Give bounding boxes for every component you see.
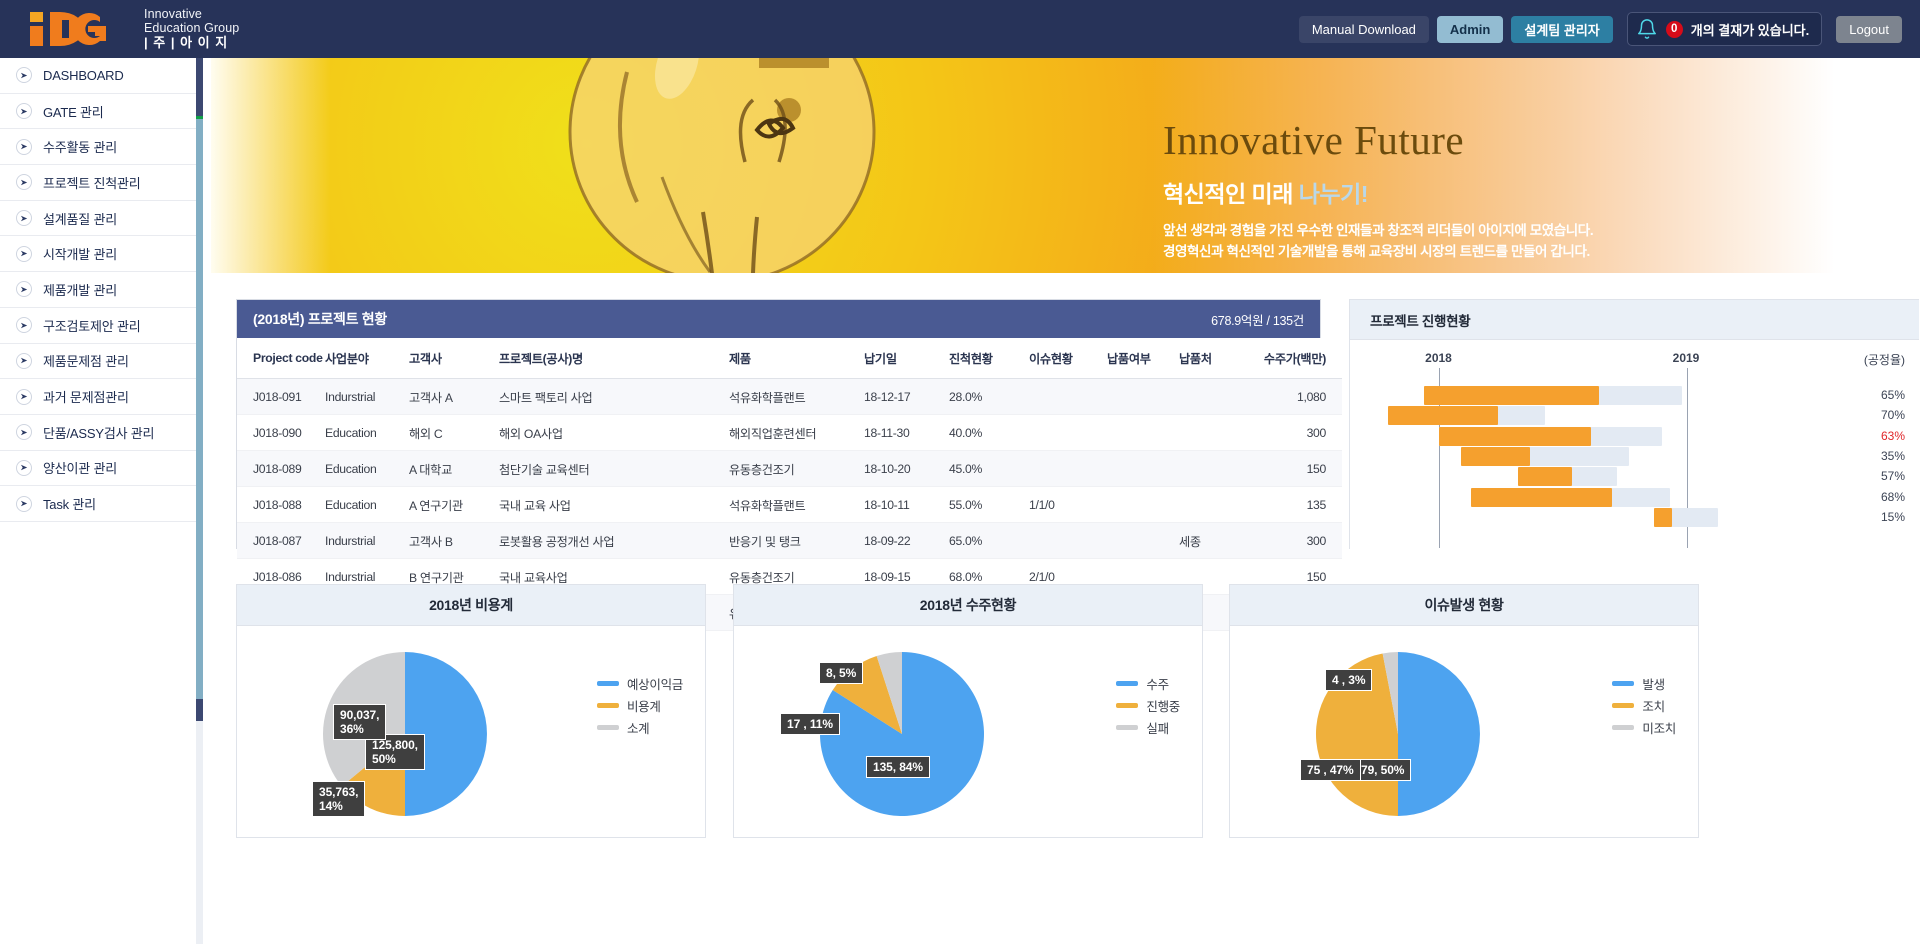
legend-swatch-icon — [1116, 725, 1138, 730]
sidebar-item-label: 과거 문제점관리 — [43, 387, 129, 406]
cell-client: 해외 C — [409, 415, 499, 451]
gantt-bar-fill — [1388, 406, 1498, 425]
sidebar-item-5[interactable]: 시작개발 관리 — [0, 236, 197, 272]
table-row[interactable]: J018-090Education해외 C해외 OA사업해외직업훈련센터18-1… — [237, 415, 1342, 451]
gantt-bar-fill — [1518, 467, 1571, 486]
sidebar-item-11[interactable]: 양산이관 관리 — [0, 451, 197, 487]
table-row[interactable]: J018-091Indurstrial고객사 A스마트 팩토리 사업석유화학플랜… — [237, 379, 1342, 415]
pie-data-label-1: 75 , 47% — [1300, 759, 1361, 781]
cost-pie-body: 예상이익금비용계소계125,800, 50%35,763, 14%90,037,… — [237, 626, 705, 837]
legend-label: 미조치 — [1642, 718, 1676, 737]
legend-swatch-icon — [1612, 681, 1634, 686]
gantt-panel-title: 프로젝트 진행현황 — [1370, 310, 1470, 330]
logo-tagline-line2: Education Group — [144, 21, 239, 35]
cell-order-price: 1,080 — [1247, 379, 1342, 415]
cell-project-name: 로봇활용 공정개선 사업 — [499, 523, 729, 559]
cell-project-code: J018-089 — [237, 451, 325, 487]
banner-left-gradient — [211, 58, 331, 273]
col-business-field: 사업분야 — [325, 338, 409, 379]
cell-order-price: 150 — [1247, 451, 1342, 487]
project-panel-summary: 678.9억원 / 135건 — [1211, 310, 1304, 329]
cell-due-date: 18-11-30 — [864, 415, 949, 451]
scrollbar-thumb[interactable] — [196, 119, 203, 699]
gantt-panel-header: 프로젝트 진행현황 — [1350, 300, 1919, 340]
cell-issue: 1/1/0 — [1029, 487, 1107, 523]
cell-delivered — [1107, 379, 1179, 415]
arrow-right-icon — [16, 103, 32, 119]
legend-swatch-icon — [597, 725, 619, 730]
cell-issue — [1029, 415, 1107, 451]
sidebar-item-3[interactable]: 프로젝트 진척관리 — [0, 165, 197, 201]
cell-product: 해외직업훈련센터 — [729, 415, 864, 451]
notification-count-badge: 0 — [1666, 21, 1683, 38]
orders-pie-body: 수주진행중실패135, 84%17 , 11%8, 5% — [734, 626, 1202, 837]
brand-logo[interactable]: Innovative Education Group | 주 | 아 이 지 — [0, 7, 239, 51]
project-table-head: Project code 사업분야 고객사 프로젝트(공사)명 제품 납기일 진… — [237, 338, 1342, 379]
arrow-right-icon — [16, 496, 32, 512]
cell-project-name: 해외 OA사업 — [499, 415, 729, 451]
manual-download-button[interactable]: Manual Download — [1299, 16, 1429, 43]
project-table-header-row: Project code 사업분야 고객사 프로젝트(공사)명 제품 납기일 진… — [237, 338, 1342, 379]
legend-label: 소계 — [627, 718, 649, 737]
col-destination: 납품처 — [1179, 338, 1247, 379]
sidebar-item-label: 설계품질 관리 — [43, 209, 117, 228]
sidebar-item-label: Task 관리 — [43, 494, 96, 513]
sidebar-item-label: 제품개발 관리 — [43, 280, 117, 299]
cell-progress: 40.0% — [949, 415, 1029, 451]
legend-item-1: 진행중 — [1116, 696, 1180, 715]
col-order-price: 수주가(백만) — [1247, 338, 1342, 379]
arrow-right-icon — [16, 424, 32, 440]
cell-progress: 65.0% — [949, 523, 1029, 559]
gantt-progress-label: 57% — [1881, 469, 1905, 483]
sidebar-item-2[interactable]: 수주활동 관리 — [0, 129, 197, 165]
arrow-right-icon — [16, 210, 32, 226]
arrow-right-icon — [16, 460, 32, 476]
pie-data-label-2: 90,037, 36% — [333, 704, 386, 740]
logout-button[interactable]: Logout — [1836, 16, 1902, 43]
legend-item-1: 비용계 — [597, 696, 683, 715]
banner-description: 앞선 생각과 경험을 가진 우수한 인재들과 창조적 리더들이 아이지에 모였습… — [1163, 221, 1593, 263]
cell-client: A 연구기관 — [409, 487, 499, 523]
cell-project-name: 스마트 팩토리 사업 — [499, 379, 729, 415]
col-project-name: 프로젝트(공사)명 — [499, 338, 729, 379]
gantt-bar-fill — [1471, 488, 1613, 507]
cell-issue — [1029, 379, 1107, 415]
legend-item-2: 미조치 — [1612, 718, 1676, 737]
cell-order-price: 135 — [1247, 487, 1342, 523]
sidebar-item-4[interactable]: 설계품질 관리 — [0, 201, 197, 237]
sidebar-item-label: 시작개발 관리 — [43, 244, 117, 263]
col-issue: 이슈현황 — [1029, 338, 1107, 379]
cell-due-date: 18-12-17 — [864, 379, 949, 415]
sidebar-item-label: 제품문제점 관리 — [43, 351, 129, 370]
legend-item-0: 수주 — [1116, 674, 1180, 693]
legend-swatch-icon — [1612, 725, 1634, 730]
legend-label: 진행중 — [1146, 696, 1180, 715]
cell-client: A 대학교 — [409, 451, 499, 487]
arrow-right-icon — [16, 389, 32, 405]
legend-swatch-icon — [1612, 703, 1634, 708]
cell-order-price: 300 — [1247, 415, 1342, 451]
col-project-code: Project code — [237, 338, 325, 379]
cell-due-date: 18-10-11 — [864, 487, 949, 523]
pie-legend: 예상이익금비용계소계 — [597, 674, 683, 740]
project-status-panel: (2018년) 프로젝트 현황 678.9억원 / 135건 Project c… — [236, 299, 1321, 549]
cell-destination — [1179, 451, 1247, 487]
gantt-progress-label: 68% — [1881, 490, 1905, 504]
sidebar-item-7[interactable]: 구조검토제안 관리 — [0, 308, 197, 344]
gantt-bar-fill — [1654, 508, 1672, 527]
project-panel-header: (2018년) 프로젝트 현황 678.9억원 / 135건 — [237, 300, 1320, 338]
legend-swatch-icon — [1116, 681, 1138, 686]
gantt-bar-fill — [1424, 386, 1599, 405]
cell-order-price: 300 — [1247, 523, 1342, 559]
cell-business-field: Education — [325, 451, 409, 487]
sidebar-item-label: 구조검토제안 관리 — [43, 316, 141, 335]
gantt-axis-2018: 2018 — [1425, 351, 1452, 365]
cell-product: 유동층건조기 — [729, 451, 864, 487]
pie-data-label-2: 8, 5% — [819, 662, 863, 684]
legend-item-0: 예상이익금 — [597, 674, 683, 693]
legend-label: 발생 — [1642, 674, 1664, 693]
cell-progress: 45.0% — [949, 451, 1029, 487]
cell-issue — [1029, 451, 1107, 487]
legend-label: 비용계 — [627, 696, 661, 715]
sidebar-item-10[interactable]: 단품/ASSY검사 관리 — [0, 415, 197, 451]
pie-data-label-0: 135, 84% — [866, 756, 930, 778]
sidebar-item-label: GATE 관리 — [43, 102, 104, 121]
banner-desc-line1: 앞선 생각과 경험을 가진 우수한 인재들과 창조적 리더들이 아이지에 모였습… — [1163, 221, 1593, 242]
scrollbar-segment-top — [196, 58, 203, 116]
pie-data-label-2: 4 , 3% — [1325, 669, 1372, 691]
banner-subtitle-main: 혁신적인 미래 — [1163, 181, 1299, 207]
team-manager-button[interactable]: 설계팀 관리자 — [1511, 16, 1612, 43]
cell-due-date: 18-09-22 — [864, 523, 949, 559]
arrow-right-icon — [16, 246, 32, 262]
cell-delivered — [1107, 523, 1179, 559]
notification-area[interactable]: 0 개의 결재가 있습니다. — [1627, 12, 1822, 46]
table-row[interactable]: J018-088EducationA 연구기관국내 교육 사업석유화학플랜트18… — [237, 487, 1342, 523]
sidebar-item-0[interactable]: DASHBOARD — [0, 58, 197, 94]
cell-product: 석유화학플랜트 — [729, 379, 864, 415]
cell-client: 고객사 B — [409, 523, 499, 559]
cell-project-name: 첨단기술 교육센터 — [499, 451, 729, 487]
cost-pie-panel: 2018년 비용계 예상이익금비용계소계125,800, 50%35,763, … — [236, 584, 706, 838]
legend-label: 실패 — [1146, 718, 1168, 737]
arrow-right-icon — [16, 139, 32, 155]
cell-destination — [1179, 379, 1247, 415]
arrow-right-icon — [16, 281, 32, 297]
pie-data-label-1: 17 , 11% — [780, 713, 840, 735]
pie-data-label-1: 35,763, 14% — [312, 781, 365, 817]
banner-desc-line2: 경영혁신과 혁신적인 기술개발을 통해 교육장비 시장의 트렌드를 만들어 갑니… — [1163, 242, 1593, 263]
cell-business-field: Indurstrial — [325, 523, 409, 559]
cell-destination — [1179, 415, 1247, 451]
cell-destination — [1179, 487, 1247, 523]
admin-button[interactable]: Admin — [1437, 16, 1503, 43]
sidebar-item-label: 수주활동 관리 — [43, 137, 117, 156]
sidebar-scrollbar[interactable] — [196, 58, 203, 944]
col-progress: 진척현황 — [949, 338, 1029, 379]
cell-delivered — [1107, 451, 1179, 487]
banner-title: Innovative Future — [1163, 118, 1593, 163]
sidebar-item-9[interactable]: 과거 문제점관리 — [0, 379, 197, 415]
arrow-right-icon — [16, 67, 32, 83]
gantt-progress-label: 35% — [1881, 449, 1905, 463]
cost-pie-title: 2018년 비용계 — [429, 595, 513, 615]
sidebar-item-8[interactable]: 제품문제점 관리 — [0, 344, 197, 380]
issue-pie-panel: 이슈발생 현황 발생조치미조치79, 50%75 , 47%4 , 3% — [1229, 584, 1699, 838]
sidebar-item-label: DASHBOARD — [43, 68, 124, 83]
cost-pie-header: 2018년 비용계 — [237, 585, 705, 626]
legend-label: 예상이익금 — [627, 674, 683, 693]
gantt-value-header: (공정율) — [1864, 351, 1905, 368]
pie-data-label-0: 79, 50% — [1354, 759, 1411, 781]
arrow-right-icon — [16, 353, 32, 369]
cell-business-field: Indurstrial — [325, 379, 409, 415]
table-row[interactable]: J018-087Indurstrial고객사 B로봇활용 공정개선 사업반응기 … — [237, 523, 1342, 559]
pie-slice-0[interactable] — [1398, 652, 1480, 816]
banner-subtitle-highlight: 나누기! — [1299, 181, 1368, 207]
gantt-bar-fill — [1439, 427, 1590, 446]
sidebar-item-1[interactable]: GATE 관리 — [0, 94, 197, 130]
logo-tagline-line3: | 주 | 아 이 지 — [144, 36, 239, 51]
sidebar-item-6[interactable]: 제품개발 관리 — [0, 272, 197, 308]
legend-item-1: 조치 — [1612, 696, 1676, 715]
cell-progress: 28.0% — [949, 379, 1029, 415]
project-progress-panel: 프로젝트 진행현황 20182019(공정율)65%70%63%35%57%68… — [1349, 299, 1919, 549]
notification-text: 개의 결재가 있습니다. — [1691, 20, 1809, 39]
gantt-axis-2019: 2019 — [1673, 351, 1700, 365]
cell-destination: 세종 — [1179, 523, 1247, 559]
cell-client: 고객사 A — [409, 379, 499, 415]
table-row[interactable]: J018-089EducationA 대학교첨단기술 교육센터유동층건조기18-… — [237, 451, 1342, 487]
sidebar-item-label: 양산이관 관리 — [43, 458, 117, 477]
cell-due-date: 18-10-20 — [864, 451, 949, 487]
hero-banner: Innovative Future 혁신적인 미래 나누기! 앞선 생각과 경험… — [211, 58, 1920, 273]
banner-subtitle: 혁신적인 미래 나누기! — [1163, 175, 1593, 209]
cell-project-code: J018-087 — [237, 523, 325, 559]
issue-pie-title: 이슈발생 현황 — [1424, 595, 1503, 615]
orders-pie-title: 2018년 수주현황 — [920, 595, 1016, 615]
lightbulb-illustration — [507, 58, 937, 273]
legend-swatch-icon — [1116, 703, 1138, 708]
arrow-right-icon — [16, 317, 32, 333]
cell-product: 석유화학플랜트 — [729, 487, 864, 523]
sidebar-nav: DASHBOARDGATE 관리수주활동 관리프로젝트 진척관리설계품질 관리시… — [0, 58, 198, 944]
cell-delivered — [1107, 415, 1179, 451]
issue-pie-header: 이슈발생 현황 — [1230, 585, 1698, 626]
top-header-bar: Innovative Education Group | 주 | 아 이 지 M… — [0, 0, 1920, 58]
issue-pie-body: 발생조치미조치79, 50%75 , 47%4 , 3% — [1230, 626, 1698, 837]
logo-tagline-line1: Innovative — [144, 7, 239, 21]
legend-label: 수주 — [1146, 674, 1168, 693]
col-delivered: 납품여부 — [1107, 338, 1179, 379]
gantt-bar-fill — [1461, 447, 1530, 466]
cell-project-name: 국내 교육 사업 — [499, 487, 729, 523]
sidebar-item-label: 프로젝트 진척관리 — [43, 173, 141, 192]
sidebar-item-12[interactable]: Task 관리 — [0, 486, 197, 522]
project-panel-title: (2018년) 프로젝트 현황 — [253, 309, 387, 329]
gantt-progress-label: 65% — [1881, 388, 1905, 402]
legend-label: 조치 — [1642, 696, 1664, 715]
legend-item-0: 발생 — [1612, 674, 1676, 693]
orders-pie-panel: 2018년 수주현황 수주진행중실패135, 84%17 , 11%8, 5% — [733, 584, 1203, 838]
header-actions: Manual Download Admin 설계팀 관리자 0 개의 결재가 있… — [1299, 0, 1902, 58]
gantt-progress-label: 63% — [1881, 429, 1905, 443]
legend-swatch-icon — [597, 681, 619, 686]
cell-business-field: Education — [325, 415, 409, 451]
col-due-date: 납기일 — [864, 338, 949, 379]
scrollbar-segment-bottom — [196, 699, 203, 721]
legend-item-2: 실패 — [1116, 718, 1180, 737]
cell-project-code: J018-088 — [237, 487, 325, 523]
cell-product: 반응기 및 탱크 — [729, 523, 864, 559]
col-client: 고객사 — [409, 338, 499, 379]
cell-issue — [1029, 523, 1107, 559]
pie-legend: 수주진행중실패 — [1116, 674, 1180, 740]
sidebar-item-label: 단품/ASSY검사 관리 — [43, 423, 154, 442]
idg-logo-icon — [28, 8, 136, 50]
gantt-chart: 20182019(공정율)65%70%63%35%57%68%15% — [1350, 340, 1919, 549]
cell-progress: 55.0% — [949, 487, 1029, 523]
legend-item-2: 소계 — [597, 718, 683, 737]
banner-copy: Innovative Future 혁신적인 미래 나누기! 앞선 생각과 경험… — [1163, 118, 1593, 263]
gantt-progress-label: 15% — [1881, 510, 1905, 524]
col-product: 제품 — [729, 338, 864, 379]
legend-swatch-icon — [597, 703, 619, 708]
gantt-progress-label: 70% — [1881, 408, 1905, 422]
arrow-right-icon — [16, 174, 32, 190]
cell-delivered — [1107, 487, 1179, 523]
cell-project-code: J018-090 — [237, 415, 325, 451]
orders-pie-header: 2018년 수주현황 — [734, 585, 1202, 626]
cell-business-field: Education — [325, 487, 409, 523]
pie-legend: 발생조치미조치 — [1612, 674, 1676, 740]
bell-icon[interactable] — [1636, 18, 1658, 40]
cell-project-code: J018-091 — [237, 379, 325, 415]
